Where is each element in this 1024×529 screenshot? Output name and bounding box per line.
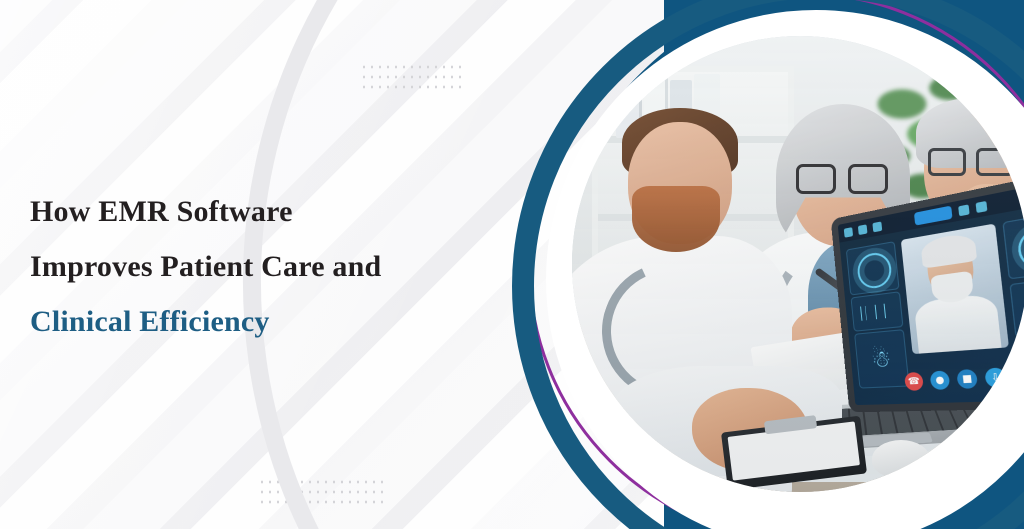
share-screen-icon[interactable]: ⇩ <box>984 367 1007 388</box>
active-tab-pill[interactable] <box>914 206 953 226</box>
scan-rings-icon <box>856 250 893 290</box>
tile-heart-rate: ♡ <box>1009 276 1024 337</box>
headline-line-1: How EMR Software <box>30 184 480 239</box>
hero-photo: ☃ ♡ ✿ ☎ ● ■ ⇩ ⋯ <box>572 36 1024 492</box>
cloud-icon <box>976 200 988 212</box>
user-icon <box>858 224 868 235</box>
headline-line-2: Improves Patient Care and <box>30 239 480 294</box>
body-scan-icon: ☃ <box>855 330 908 387</box>
camera-icon[interactable]: ■ <box>956 369 978 389</box>
tile-ecg-waveform <box>851 291 904 332</box>
call-control-bar: ☎ ● ■ ⇩ ⋯ <box>904 366 1024 391</box>
tile-circular-scan <box>846 241 900 295</box>
chart-icon <box>872 221 882 232</box>
more-options-icon[interactable]: ⋯ <box>1014 366 1024 387</box>
headline-line-3: Clinical Efficiency <box>30 294 480 349</box>
page-title: How EMR Software Improves Patient Care a… <box>30 184 480 349</box>
grid-icon <box>844 227 853 238</box>
tile-body-scan: ☃ <box>854 329 910 388</box>
heart-icon: ♡ <box>1011 277 1024 336</box>
tile-brain-scan <box>1002 211 1024 280</box>
settings-icon <box>958 204 969 216</box>
senior-doctor-glasses-icon <box>928 148 1014 170</box>
patient-coat <box>914 293 1002 354</box>
ecg-icon <box>856 302 897 321</box>
remote-patient-video <box>901 223 1009 354</box>
brain-scan-icon <box>1016 224 1024 271</box>
end-call-icon[interactable]: ☎ <box>904 372 924 391</box>
male-doctor-beard <box>632 186 720 252</box>
female-doctor-glasses-icon <box>796 164 888 188</box>
computer-mouse <box>872 440 930 478</box>
microphone-icon[interactable]: ● <box>930 370 951 390</box>
hero-banner: ☃ ♡ ✿ ☎ ● ■ ⇩ ⋯ <box>0 0 1024 529</box>
